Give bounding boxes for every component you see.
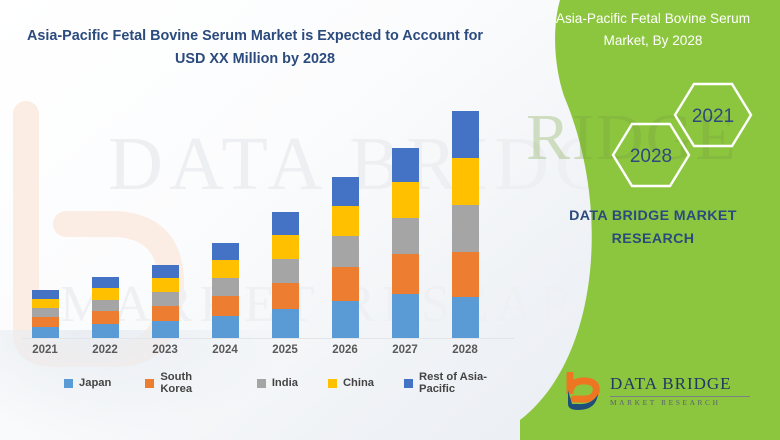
bar-2028 [452,111,479,338]
legend-swatch-icon [328,379,337,388]
bar-segment-south-korea-2027 [392,254,419,294]
bar-segment-japan-2028 [452,297,479,338]
bar-segment-india-2021 [32,308,59,317]
bar-segment-rest-of-asia-pacific-2025 [272,212,299,235]
bar-segment-china-2028 [452,158,479,205]
legend-label: Japan [79,377,111,389]
bar-segment-china-2027 [392,182,419,218]
bar-segment-south-korea-2022 [92,311,119,324]
chart-legend: JapanSouth KoreaIndiaChinaRest of Asia-P… [18,372,523,394]
bar-segment-india-2027 [392,218,419,254]
hexagon-pair: 2021 2028 [602,82,762,192]
x-tick-2028: 2028 [435,344,495,356]
bar-segment-china-2025 [272,235,299,259]
bar-segment-south-korea-2021 [32,317,59,327]
bar-2026 [332,177,359,338]
bar-2027 [392,148,419,338]
svg-text:2021: 2021 [692,106,734,127]
bar-segment-china-2022 [92,288,119,300]
bar-segment-india-2026 [332,236,359,267]
legend-label: China [343,377,374,389]
bar-segment-rest-of-asia-pacific-2021 [32,290,59,299]
logo-mark-icon [562,372,604,412]
brand-panel: RIDGE Asia-Pacific Fetal Bovine Serum Ma… [520,0,780,440]
company-logo: DATA BRIDGE MARKET RESEARCH [562,370,752,416]
logo-divider [610,396,750,397]
legend-label: South Korea [160,371,226,395]
legend-item-south-korea[interactable]: South Korea [145,371,226,395]
chart-title: Asia-Pacific Fetal Bovine Serum Market i… [20,25,490,71]
bar-2023 [152,265,179,338]
bar-2021 [32,290,59,338]
bar-segment-rest-of-asia-pacific-2027 [392,148,419,182]
bar-segment-south-korea-2024 [212,296,239,316]
bar-segment-rest-of-asia-pacific-2024 [212,243,239,260]
bar-segment-china-2023 [152,278,179,292]
bar-2024 [212,243,239,338]
legend-item-japan[interactable]: Japan [64,377,111,389]
legend-item-china[interactable]: China [328,377,374,389]
x-tick-2023: 2023 [135,344,195,356]
legend-swatch-icon [404,379,413,388]
bar-segment-china-2021 [32,299,59,308]
legend-swatch-icon [145,379,154,388]
bar-segment-india-2023 [152,292,179,306]
svg-text:2028: 2028 [630,146,672,167]
bar-segment-japan-2025 [272,309,299,338]
chart-region: Asia-Pacific Fetal Bovine Serum Market i… [0,0,540,440]
bar-segment-china-2026 [332,206,359,236]
bar-segment-india-2022 [92,300,119,311]
bar-segment-india-2028 [452,205,479,252]
legend-item-rest-of-asia-pacific[interactable]: Rest of Asia-Pacific [404,371,523,395]
legend-swatch-icon [257,379,266,388]
bar-2022 [92,277,119,338]
bar-segment-south-korea-2023 [152,306,179,321]
bar-segment-japan-2023 [152,321,179,338]
x-tick-2026: 2026 [315,344,375,356]
panel-brand-text: DATA BRIDGE MARKET RESEARCH [540,205,766,251]
bar-segment-rest-of-asia-pacific-2028 [452,111,479,158]
logo-name: DATA BRIDGE [610,374,732,394]
bar-segment-rest-of-asia-pacific-2022 [92,277,119,288]
bar-segment-india-2024 [212,278,239,296]
bar-segment-south-korea-2025 [272,283,299,309]
infographic-canvas: DATA BRIDGE MARKET RESEARCH Asia-Pacific… [0,0,780,440]
bar-segment-south-korea-2026 [332,267,359,301]
bar-segment-rest-of-asia-pacific-2026 [332,177,359,206]
bar-2025 [272,212,299,338]
bar-segment-rest-of-asia-pacific-2023 [152,265,179,278]
bar-segment-japan-2024 [212,316,239,338]
bar-segment-south-korea-2028 [452,252,479,297]
legend-item-india[interactable]: India [257,377,298,389]
bar-segment-india-2025 [272,259,299,283]
x-tick-2027: 2027 [375,344,435,356]
x-tick-2022: 2022 [75,344,135,356]
bar-segment-japan-2027 [392,294,419,338]
x-axis-tick-labels: 20212022202320242025202620272028 [18,344,523,364]
bar-segment-japan-2021 [32,327,59,338]
x-tick-2025: 2025 [255,344,315,356]
x-axis-line [22,338,514,339]
legend-swatch-icon [64,379,73,388]
stacked-bar-plot [18,95,523,340]
bar-segment-japan-2026 [332,301,359,338]
x-tick-2024: 2024 [195,344,255,356]
legend-label: Rest of Asia-Pacific [419,371,523,395]
logo-subtitle: MARKET RESEARCH [610,398,721,407]
x-tick-2021: 2021 [15,344,75,356]
bar-segment-china-2024 [212,260,239,278]
bar-segment-japan-2022 [92,324,119,338]
legend-label: India [272,377,298,389]
panel-title: Asia-Pacific Fetal Bovine Serum Market, … [542,8,764,52]
